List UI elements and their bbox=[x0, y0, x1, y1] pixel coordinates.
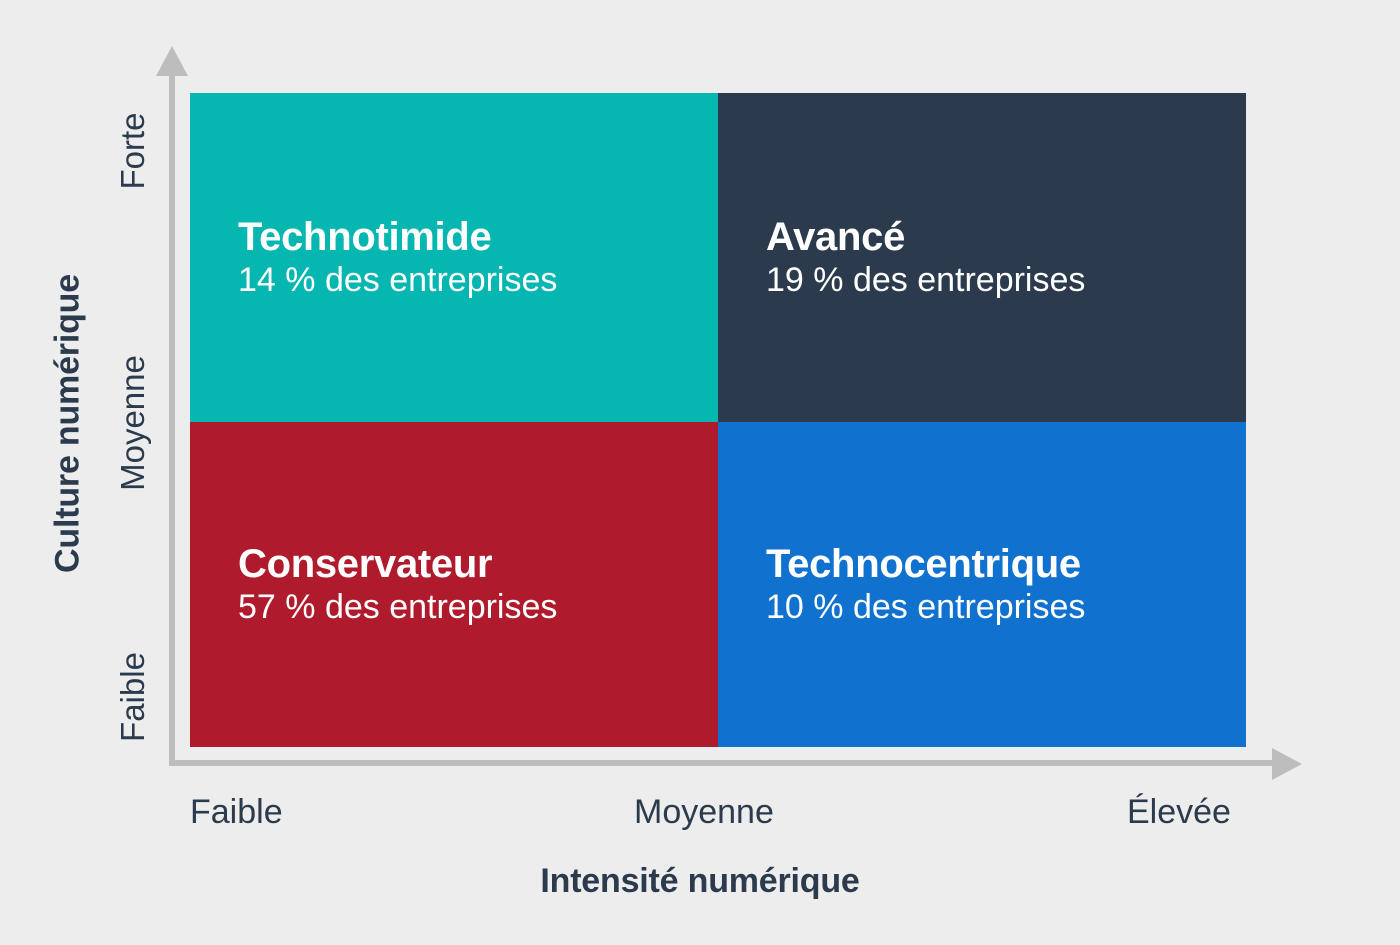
x-tick-label-faible: Faible bbox=[190, 793, 283, 832]
quadrant-value-label: 57 % des entreprises bbox=[238, 588, 718, 626]
y-tick-label-moyenne: Moyenne bbox=[114, 318, 152, 528]
quadrant-value-label: 14 % des entreprises bbox=[238, 261, 718, 299]
quadrant-value-label: 19 % des entreprises bbox=[766, 261, 1246, 299]
y-tick-label-faible: Faible bbox=[114, 614, 152, 780]
x-axis-arrow-icon bbox=[1272, 748, 1302, 780]
quadrant-conservateur: Conservateur 57 % des entreprises bbox=[190, 422, 718, 747]
quadrant-title: Conservateur bbox=[238, 543, 718, 586]
y-axis-title: Culture numérique bbox=[49, 238, 88, 610]
quadrant-technotimide: Technotimide 14 % des entreprises bbox=[190, 93, 718, 422]
x-axis-title: Intensité numérique bbox=[0, 862, 1400, 901]
quadrant-technocentrique: Technocentrique 10 % des entreprises bbox=[718, 422, 1246, 747]
quadrant-avance: Avancé 19 % des entreprises bbox=[718, 93, 1246, 422]
y-axis-line bbox=[169, 72, 175, 766]
quadrant-grid: Technotimide 14 % des entreprises Avancé… bbox=[190, 93, 1246, 747]
y-tick-label-forte: Forte bbox=[114, 71, 152, 231]
x-axis-line bbox=[169, 760, 1279, 766]
y-axis-arrow-icon bbox=[156, 46, 188, 76]
quadrant-title: Technocentrique bbox=[766, 543, 1246, 586]
x-tick-label-elevee: Élevée bbox=[1127, 793, 1231, 832]
quadrant-matrix-figure: Technotimide 14 % des entreprises Avancé… bbox=[0, 0, 1400, 945]
quadrant-title: Technotimide bbox=[238, 216, 718, 259]
quadrant-value-label: 10 % des entreprises bbox=[766, 588, 1246, 626]
x-tick-label-moyenne: Moyenne bbox=[634, 793, 774, 832]
quadrant-title: Avancé bbox=[766, 216, 1246, 259]
